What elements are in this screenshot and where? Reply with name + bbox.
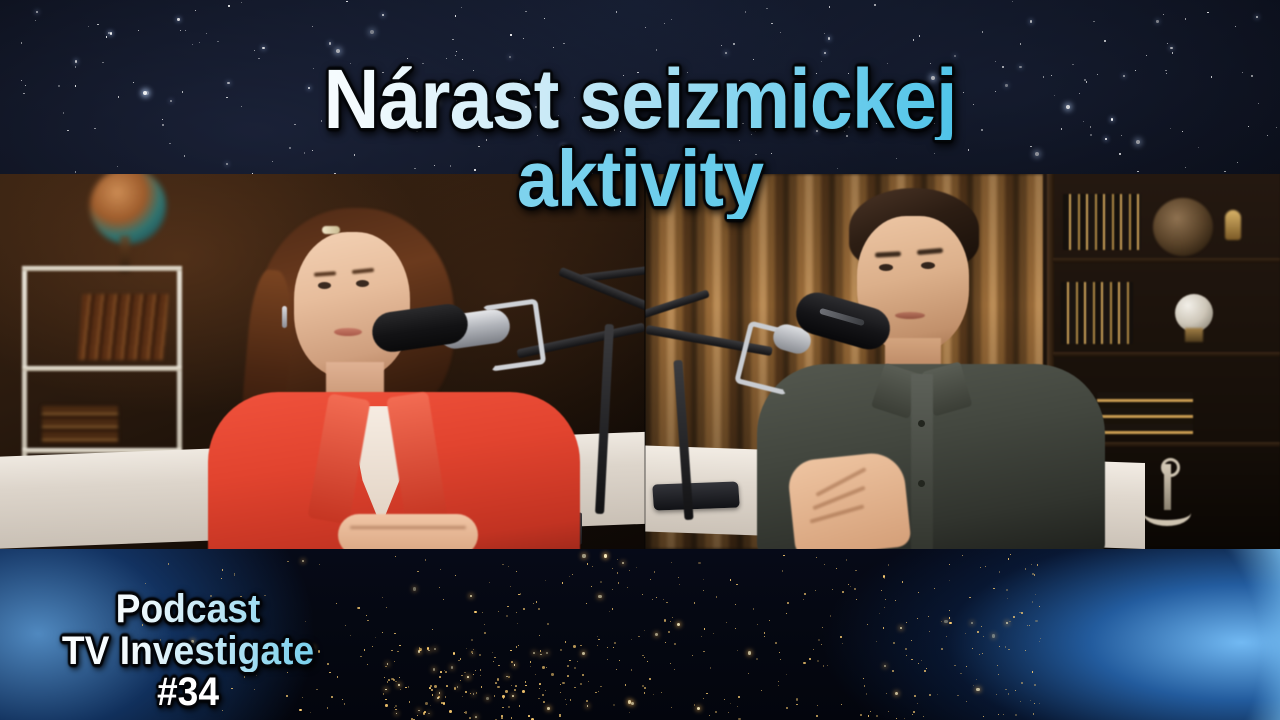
books-bottom-right bbox=[1097, 392, 1193, 436]
shirt-placket bbox=[911, 374, 933, 549]
video-panel-right bbox=[645, 174, 1280, 549]
earth-atmosphere-glow bbox=[1020, 548, 1280, 720]
guest-woman bbox=[222, 196, 572, 549]
books-upper-left bbox=[78, 294, 169, 360]
host-man bbox=[765, 188, 1105, 549]
anchor-arms bbox=[1143, 500, 1191, 526]
clasped-hands bbox=[338, 514, 478, 549]
eye bbox=[921, 262, 935, 269]
split-screen-video bbox=[0, 174, 1280, 549]
face bbox=[294, 232, 410, 378]
eye bbox=[356, 280, 369, 287]
lips bbox=[895, 312, 925, 319]
decor-trophy-right bbox=[1225, 210, 1241, 240]
shelf-plank bbox=[22, 266, 182, 271]
globe-sphere-right bbox=[1175, 294, 1213, 332]
shelf-plank bbox=[22, 366, 182, 371]
shirt-button bbox=[918, 420, 925, 427]
eye bbox=[318, 282, 331, 289]
anchor-ornament bbox=[1143, 458, 1191, 522]
video-panel-left bbox=[0, 174, 645, 549]
video-thumbnail: Nárast seizmickej aktivity Podcast TV In… bbox=[0, 0, 1280, 720]
decor-plaque-right bbox=[1153, 198, 1213, 256]
smartphone bbox=[652, 481, 740, 510]
panel-divider bbox=[644, 174, 646, 549]
lips bbox=[334, 328, 362, 336]
eye bbox=[879, 264, 893, 271]
hair-clip bbox=[322, 226, 340, 234]
books-lower-left bbox=[42, 406, 118, 444]
earth-from-orbit bbox=[0, 548, 1280, 720]
shirt-button bbox=[918, 480, 925, 487]
earring bbox=[282, 306, 287, 328]
steepled-hands bbox=[786, 450, 911, 549]
globe-stand-right bbox=[1185, 328, 1203, 342]
